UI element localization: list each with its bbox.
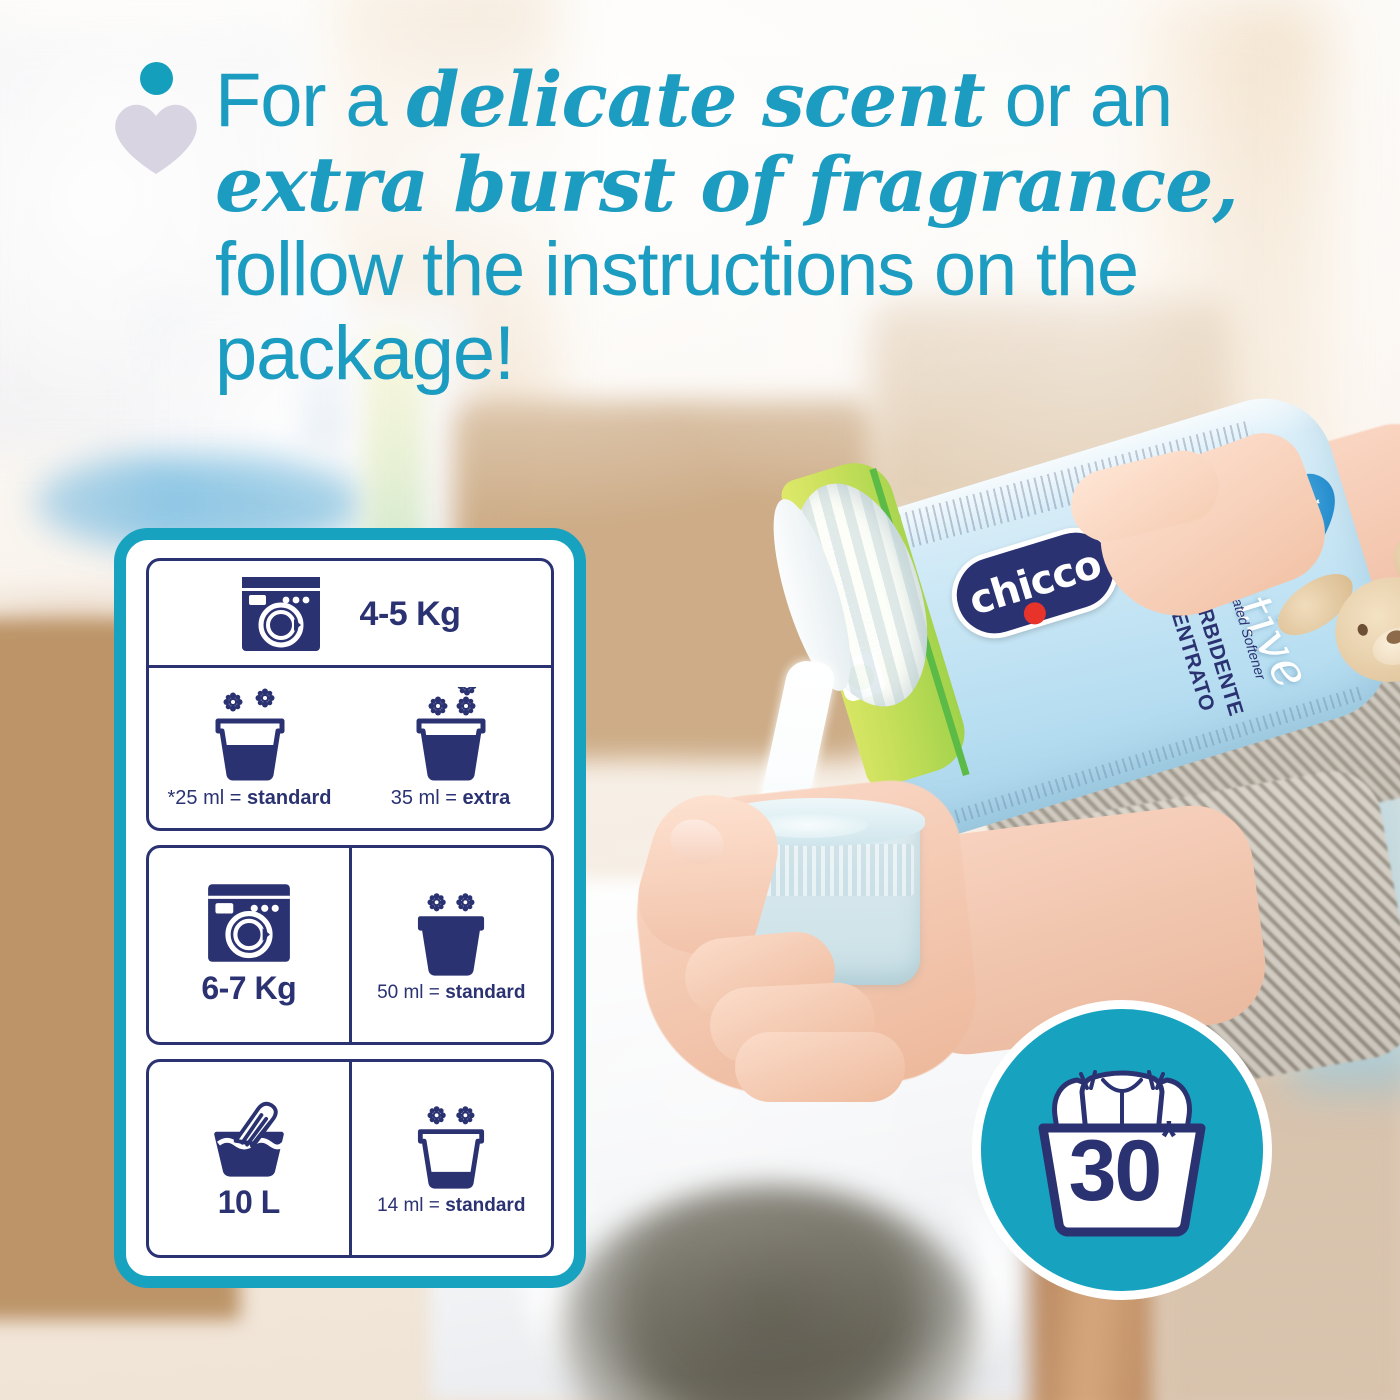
panel-machine-wash-6-7kg: 6-7 Kg 50 ml = standard bbox=[146, 845, 554, 1044]
page-title: For a delicate scent or an extra burst o… bbox=[215, 58, 1275, 396]
doses-row: *25 ml = standard 35 ml = extra bbox=[149, 668, 551, 828]
headline-line1-post: or an bbox=[985, 58, 1172, 143]
dose-cell-standard: 50 ml = standard bbox=[352, 848, 552, 1041]
wash-temperature: 30* bbox=[1017, 1122, 1227, 1221]
cup-full-two-flowers-icon bbox=[405, 886, 497, 978]
washing-machine-icon bbox=[240, 575, 322, 653]
load-cell-6-7kg: 6-7 Kg bbox=[149, 848, 349, 1041]
dose-cell-extra: 35 ml = extra bbox=[350, 668, 551, 828]
load-cell-10l: 10 L bbox=[149, 1062, 349, 1255]
dose-label-extra: 35 ml = extra bbox=[391, 787, 511, 810]
panel-machine-wash-4-5kg: 4-5 Kg *25 ml = standard bbox=[146, 558, 554, 831]
load-row: 4-5 Kg bbox=[149, 561, 551, 665]
dose-cell-standard: *25 ml = standard bbox=[149, 668, 350, 828]
cup-half-two-flowers-icon bbox=[202, 687, 298, 783]
load-capacity-label: 6-7 Kg bbox=[201, 970, 296, 1007]
dosage-instructions-card: 4-5 Kg *25 ml = standard bbox=[114, 528, 586, 1288]
cup-quarter-two-flowers-icon bbox=[405, 1099, 497, 1191]
washing-machine-icon bbox=[206, 882, 292, 964]
headline-line1-emphasis: delicate scent bbox=[406, 55, 984, 144]
headline-line4: package! bbox=[215, 311, 514, 396]
wash-at-30-badge: 30* bbox=[972, 1000, 1272, 1300]
headline-line1-pre: For a bbox=[215, 58, 406, 143]
logo-heart-icon bbox=[110, 100, 202, 174]
load-capacity-label: 10 L bbox=[218, 1184, 280, 1221]
finger-3 bbox=[735, 1032, 905, 1102]
headline-line3: follow the instructions on the bbox=[215, 227, 1138, 312]
hand-wash-icon bbox=[203, 1096, 295, 1178]
dose-label-standard: *25 ml = standard bbox=[168, 787, 332, 810]
panel-hand-wash-10l: 10 L 14 ml = standard bbox=[146, 1059, 554, 1258]
dose-cell-standard: 14 ml = standard bbox=[352, 1062, 552, 1255]
load-capacity-label: 4-5 Kg bbox=[360, 595, 461, 634]
logo-dot-icon bbox=[140, 62, 173, 95]
dose-label-standard: 50 ml = standard bbox=[377, 982, 525, 1004]
cup-full-three-flowers-icon bbox=[403, 687, 499, 783]
chicco-heart-logo bbox=[110, 62, 202, 174]
headline-line2-emphasis: extra burst of fragrance, bbox=[215, 140, 1238, 229]
dose-label-standard: 14 ml = standard bbox=[377, 1195, 525, 1217]
